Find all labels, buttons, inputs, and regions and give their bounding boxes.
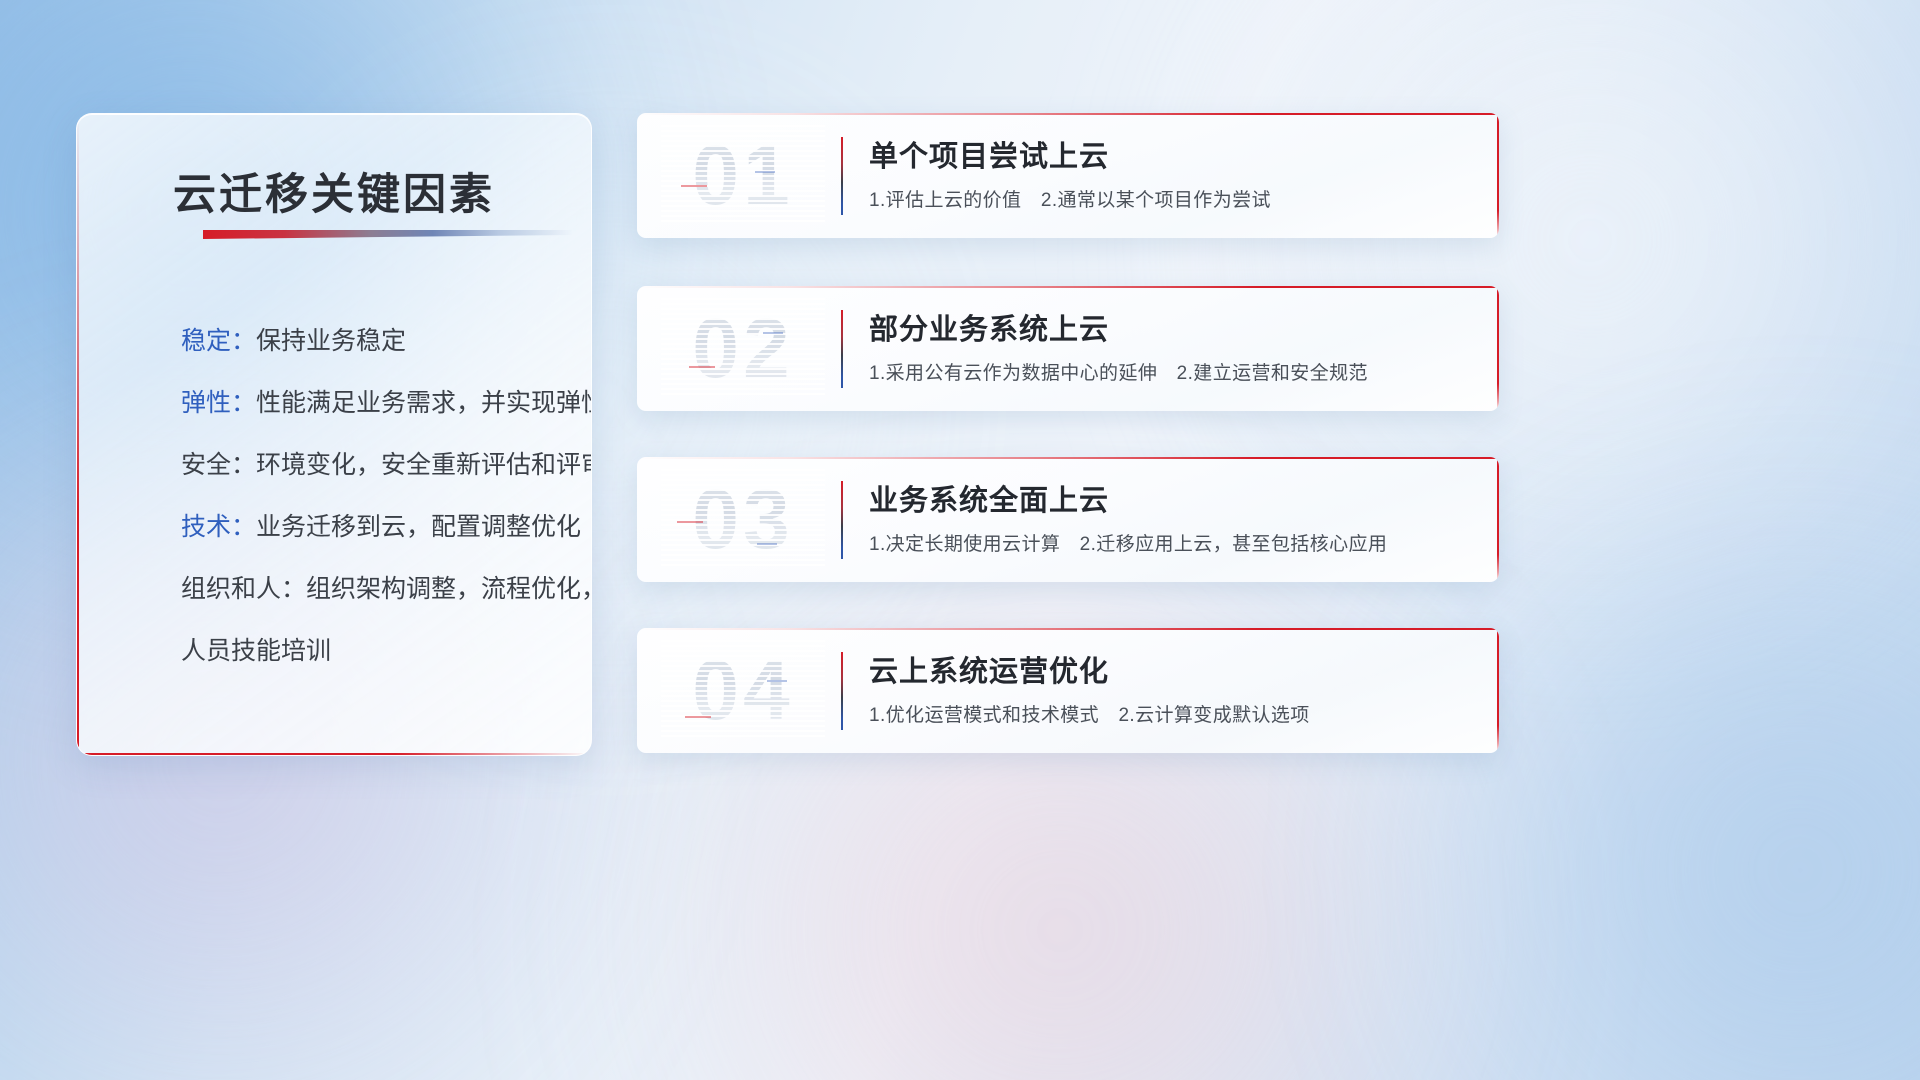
number-glitch-blue-tick [757,543,777,545]
number-glitch-red-tick [677,521,703,523]
card-right-accent-line [1497,286,1499,411]
stage-description: 1.优化运营模式和技术模式 2.云计算变成默认选项 [869,700,1310,727]
list-item-continuation: 人员技能培训 [181,620,561,682]
stage-title: 云上系统运营优化 [869,648,1109,690]
number-glitch-red-tick [685,716,711,718]
slide-stage: 云迁移关键因素 稳定：保持业务稳定 弹性：性能满足业务需求，并实现弹性 安全：环… [0,0,1920,1080]
stage-description: 1.采用公有云作为数据中心的延伸 2.建立运营和安全规范 [869,358,1368,385]
card-divider-bar [841,310,843,388]
stage-title: 业务系统全面上云 [869,477,1109,519]
key-factors-list: 稳定：保持业务稳定 弹性：性能满足业务需求，并实现弹性 安全：环境变化，安全重新… [181,310,561,682]
stage-card-03[interactable]: 03 业务系统全面上云 1.决定长期使用云计算 2.迁移应用上云，甚至包括核心应… [637,457,1499,582]
title-underline-gradient [203,230,573,239]
factor-value: 性能满足业务需求，并实现弹性 [256,389,592,417]
stage-description: 1.决定长期使用云计算 2.迁移应用上云，甚至包括核心应用 [869,529,1387,556]
card-right-accent-line [1497,113,1499,238]
number-glitch-blue-tick [755,171,775,173]
stage-card-01[interactable]: 01 单个项目尝试上云 1.评估上云的价值 2.通常以某个项目作为尝试 [637,113,1499,238]
factor-value: 环境变化，安全重新评估和评审 [256,451,592,479]
number-glitch-red-tick [689,366,715,368]
card-top-accent-line [637,286,1499,288]
factor-label: 组织和人： [181,575,306,603]
card-divider-bar [841,481,843,559]
factor-label: 稳定： [181,327,256,355]
card-top-accent-line [637,113,1499,115]
stage-title: 单个项目尝试上云 [869,133,1109,175]
factor-value: 人员技能培训 [181,637,331,665]
card-right-accent-line [1497,457,1499,582]
card-divider-bar [841,137,843,215]
stage-card-02[interactable]: 02 部分业务系统上云 1.采用公有云作为数据中心的延伸 2.建立运营和安全规范 [637,286,1499,411]
factor-label: 弹性： [181,389,256,417]
stage-title: 部分业务系统上云 [869,306,1109,348]
card-divider-bar [841,652,843,730]
list-item: 组织和人：组织架构调整，流程优化， [181,558,561,620]
list-item: 弹性：性能满足业务需求，并实现弹性 [181,372,561,434]
factor-label: 安全： [181,451,256,479]
factor-value: 保持业务稳定 [256,327,406,355]
card-right-accent-line [1497,628,1499,753]
stage-number-watermark: 01 [661,125,825,225]
stage-number-watermark: 04 [661,640,825,740]
number-glitch-red-tick [681,185,707,187]
page-title: 云迁移关键因素 [77,160,591,222]
key-factors-panel: 云迁移关键因素 稳定：保持业务稳定 弹性：性能满足业务需求，并实现弹性 安全：环… [76,113,592,756]
card-top-accent-line [637,457,1499,459]
number-glitch-blue-tick [763,332,783,334]
stage-card-04[interactable]: 04 云上系统运营优化 1.优化运营模式和技术模式 2.云计算变成默认选项 [637,628,1499,753]
factor-label: 技术： [181,513,256,541]
number-glitch-blue-tick [767,680,787,682]
factor-value: 组织架构调整，流程优化， [306,575,592,603]
stage-description: 1.评估上云的价值 2.通常以某个项目作为尝试 [869,185,1271,212]
list-item: 稳定：保持业务稳定 [181,310,561,372]
list-item: 安全：环境变化，安全重新评估和评审 [181,434,561,496]
list-item: 技术：业务迁移到云，配置调整优化 [181,496,561,558]
factor-value: 业务迁移到云，配置调整优化 [256,513,581,541]
card-top-accent-line [637,628,1499,630]
stage-number-watermark: 03 [661,469,825,569]
stage-number-watermark: 02 [661,298,825,398]
